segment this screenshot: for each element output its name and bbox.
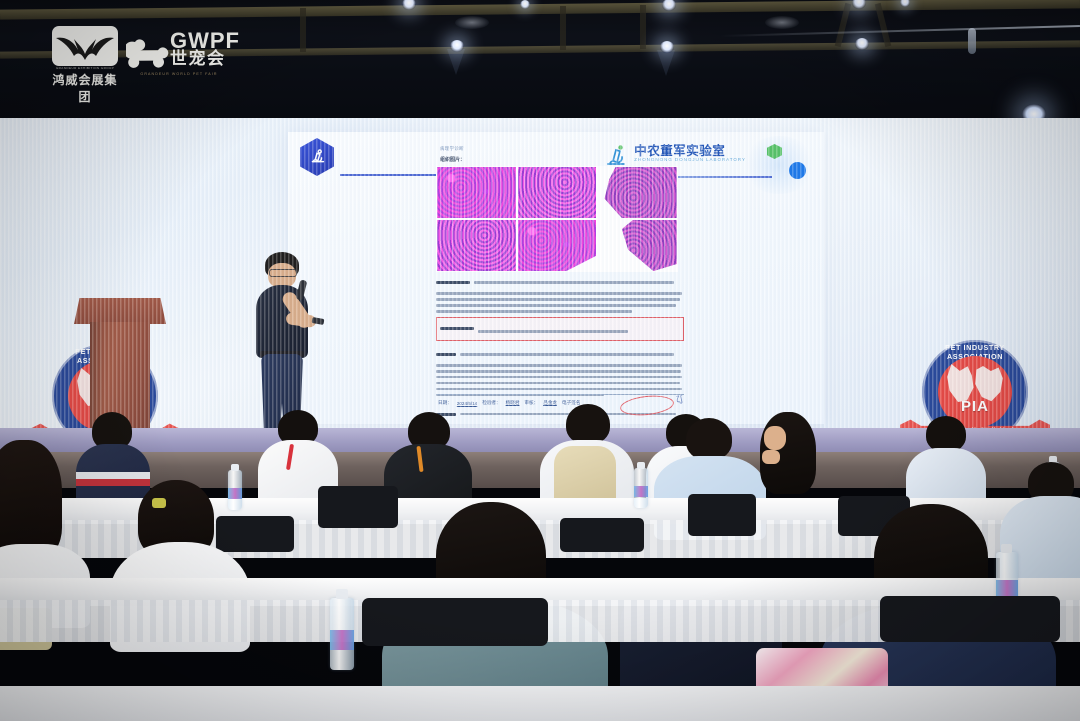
micrograph-cell [437,167,516,218]
lectern-top [74,298,166,324]
lab-brand: 中农董军实验室 ZHONGNONG DONGJUN LABORATORY [603,140,746,168]
micrograph-cell [518,220,597,271]
lighting-truss-upper [0,0,1080,20]
micrograph-cell [598,167,677,218]
microscope-hexagon-icon [300,138,334,176]
audience-hair [566,404,610,444]
footer-review-label: 审核： [524,400,538,406]
audience-hair [926,416,966,452]
audience-face [764,426,786,450]
photo-canvas: GRANDEUR EXHIBITION GROUP 鸿威会展集团 GWPF 世宠… [0,0,1080,721]
water-bottle [634,468,648,508]
spotlight [520,0,530,9]
eyeglasses-icon [269,269,297,277]
truss-brace [560,6,566,50]
list-item [756,412,818,508]
light-beam [657,50,675,76]
micrograph-cell [518,167,597,218]
section-diagnosis-highlight [436,317,684,341]
dog-bone-icon [126,34,172,70]
histology-image-grid [436,166,678,272]
ceiling-lamp [765,16,799,29]
lab-brand-english: ZHONGNONG DONGJUN LABORATORY [634,158,746,163]
chair-back [318,486,398,528]
water-bottle [330,598,354,670]
led-video-wall: PET INDUSTRY ASSOCIATION PIA G D · C H I… [0,118,1080,440]
wings-w-logo-icon [52,26,118,66]
footer-date: 2024/5/14 [457,401,477,406]
chair-back [880,596,1060,642]
microscope-icon [603,140,629,168]
presentation-slide: 病理学诊断 组织图片： 中农董军实验室 ZHONGNONG DONGJUN LA… [288,132,824,424]
exhibition-group-english: GRANDEUR EXHIBITION GROUP [48,66,122,70]
report-label: 病理学诊断 [440,146,464,152]
gwpf-event-logo: GWPF 世宠会 GRANDEUR WORLD PET FAIR [126,28,230,82]
decorative-blob [742,136,816,194]
truss-brace [640,5,646,49]
truss-brace [300,8,306,52]
gwpf-chinese: 世宠会 [170,50,226,67]
spotlight [855,38,869,50]
footer-date-label: 日期： [438,400,452,406]
gwpf-english: GRANDEUR WORLD PET FAIR [128,72,230,76]
footer-tech-label: 检验者： [482,400,500,406]
blue-circle-dot [789,162,806,179]
micrograph-cell [437,220,516,271]
slide-divider-left [340,174,440,176]
ceiling-lamp [455,16,489,29]
hair-clip [152,498,166,508]
hanging-fixture [968,28,976,54]
footer-tech: 杨晓君 [506,400,520,406]
section-microscopic-findings [436,274,684,313]
banquet-table [0,686,1080,721]
light-beam [447,49,465,75]
audience-hand [762,450,780,464]
audience-hair [686,418,732,460]
handheld-microphone [296,279,308,300]
report-subtitle: 组织图片： [440,156,465,163]
footer-divider [436,394,684,395]
exhibition-group-chinese: 鸿威会展集团 [48,71,122,105]
section-discussion [436,346,684,397]
micrograph-cell [598,220,677,271]
audience-hair-long [0,440,62,558]
exhibition-group-logo: GRANDEUR EXHIBITION GROUP 鸿威会展集团 [48,26,122,84]
pia-center-text: PIA [940,398,1010,415]
chair-back [362,598,548,646]
